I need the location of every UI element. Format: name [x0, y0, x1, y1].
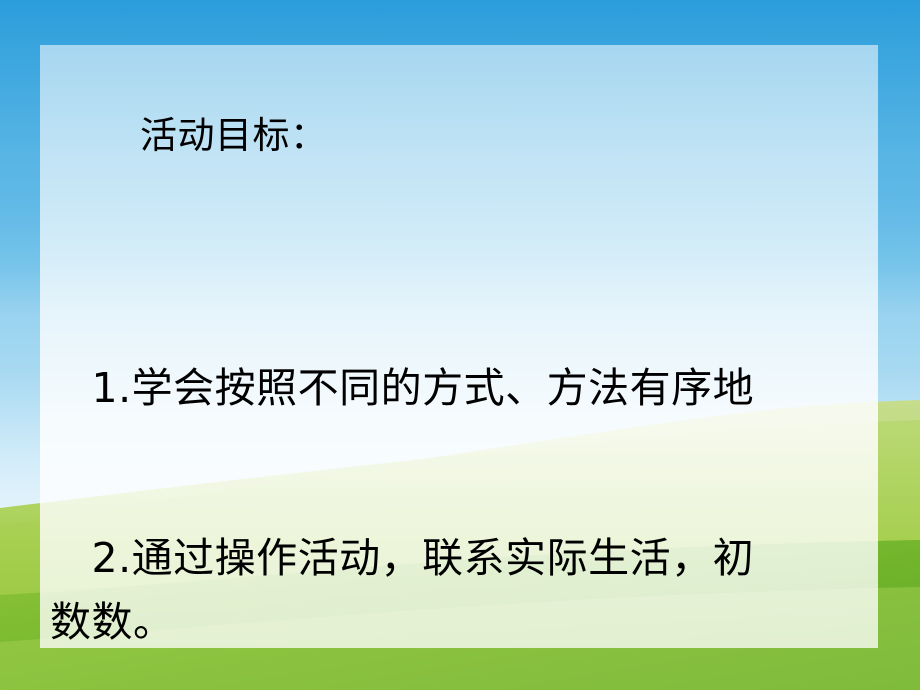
page-title: 活动目标：	[140, 113, 328, 159]
content-panel-inner: 活动目标： 1.学会按照不同的方式、方法有序地 数数。 2.通过操作活动，联系实…	[40, 45, 878, 648]
content-panel: 活动目标： 1.学会按照不同的方式、方法有序地 数数。 2.通过操作活动，联系实…	[40, 45, 878, 648]
goal-item-3: 3.增强幼儿的观察能力，培养幼儿对 数数活动的好奇心和兴趣。	[50, 533, 870, 690]
slide-canvas: 活动目标： 1.学会按照不同的方式、方法有序地 数数。 2.通过操作活动，联系实…	[0, 0, 920, 690]
